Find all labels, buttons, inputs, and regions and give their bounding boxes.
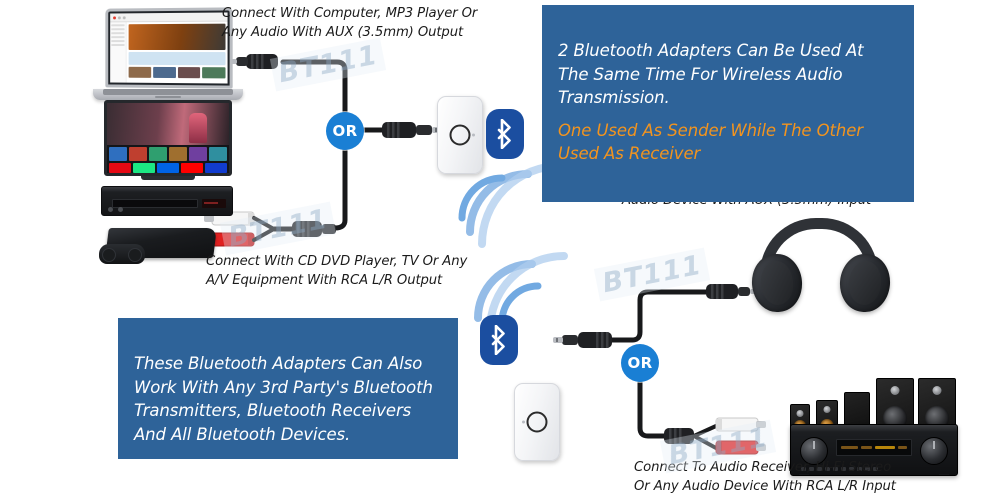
bluetooth-glyph [490, 325, 508, 355]
watermark-mid-right: BT111 [594, 248, 711, 302]
over-ear-headphones [746, 218, 896, 314]
infographic-canvas: OR OR [0, 0, 1000, 500]
bluetooth-adapter-transmitter[interactable] [437, 96, 483, 174]
watermark-top-left: BT111 [270, 38, 387, 92]
top-right-callout: 2 Bluetooth Adapters Can Be Used At The … [542, 5, 914, 202]
bluetooth-icon-receiver [480, 315, 518, 365]
bluetooth-glyph [496, 119, 514, 149]
aux-plug-left [382, 122, 441, 138]
watermark-mid-left: BT111 [220, 202, 337, 256]
top-callout-accent-text: One Used As Sender While The Other Used … [558, 119, 898, 166]
bottom-callout-text: These Bluetooth Adapters Can Also Work W… [134, 354, 433, 443]
caption-computer-aux: Connect With Computer, MP3 Player Or Any… [222, 4, 502, 42]
receiver-display [836, 439, 912, 456]
laptop-base [93, 89, 243, 100]
dvd-player [101, 186, 233, 216]
top-callout-main-text: 2 Bluetooth Adapters Can Be Used At The … [558, 41, 864, 107]
bluetooth-adapter-receiver[interactable] [514, 383, 560, 461]
caption-cd-dvd-rca: Connect With CD DVD Player, TV Or Any A/… [206, 252, 486, 290]
game-console [99, 222, 217, 264]
or-badge-left-label: OR [333, 122, 358, 140]
or-badge-right-label: OR [628, 354, 653, 372]
tv-screen [104, 100, 232, 176]
adapter-power-button[interactable] [527, 412, 548, 433]
laptop-screen [105, 7, 232, 88]
adapter-led-indicator [472, 134, 475, 137]
tv-stand [141, 176, 195, 180]
aux-plug-right-adapter [553, 332, 612, 348]
smart-tv [104, 100, 232, 180]
adapter-power-button[interactable] [450, 125, 471, 146]
or-badge-left[interactable]: OR [326, 112, 364, 150]
bluetooth-icon-transmitter [486, 109, 524, 159]
bottom-left-callout: These Bluetooth Adapters Can Also Work W… [118, 318, 458, 459]
or-badge-right[interactable]: OR [621, 344, 659, 382]
adapter-led-indicator [522, 421, 525, 424]
